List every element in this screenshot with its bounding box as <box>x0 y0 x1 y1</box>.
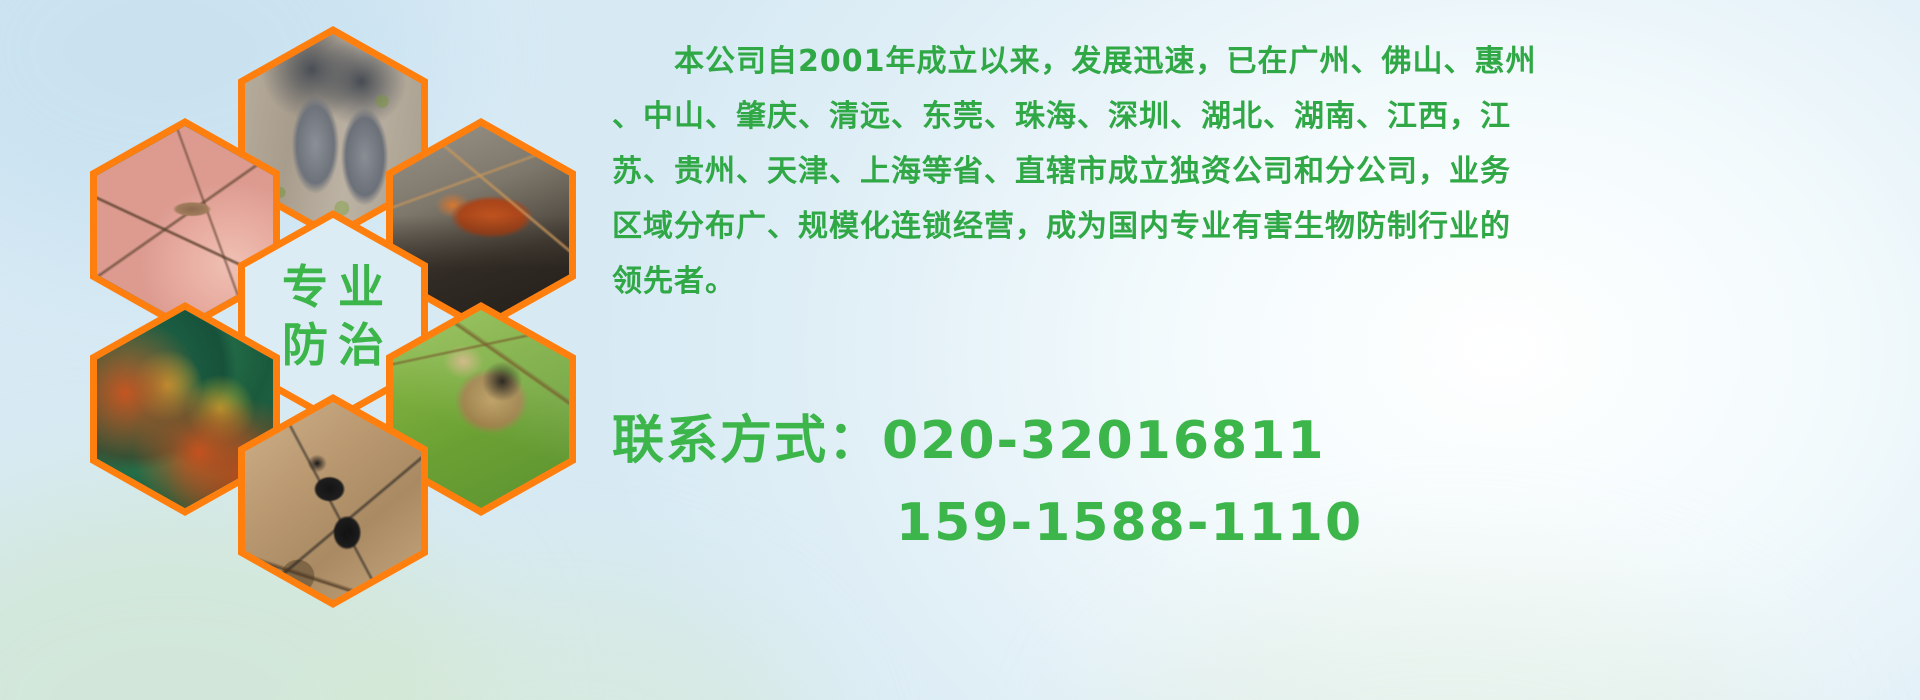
description-line-3: 苏、贵州、天津、上海等省、直辖市成立独资公司和分公司，业务 <box>612 144 1912 199</box>
contact-secondary-phone[interactable]: 159-1588-1110 <box>612 482 1912 564</box>
background-blob-bottom-right <box>1100 570 1800 700</box>
company-description: 本公司自2001年成立以来，发展迅速，已在广州、佛山、惠州 、中山、肇庆、清远、… <box>612 34 1912 309</box>
description-line-4: 区域分布广、规模化连锁经营，成为国内专业有害生物防制行业的 <box>612 199 1912 254</box>
ant-photo <box>245 402 421 600</box>
description-line-5: 领先者。 <box>612 254 1912 309</box>
slogan-line-2: 防治 <box>272 320 394 372</box>
description-line-2: 、中山、肇庆、清远、东莞、珠海、深圳、湖北、湖南、江西，江 <box>612 89 1912 144</box>
honeycomb-image-cluster: 专业 防治 <box>90 8 590 588</box>
contact-block: 联系方式：020-32016811 159-1588-1110 <box>612 400 1912 564</box>
description-line-1: 本公司自2001年成立以来，发展迅速，已在广州、佛山、惠州 <box>612 34 1912 89</box>
contact-primary-phone[interactable]: 联系方式：020-32016811 <box>612 400 1912 482</box>
promo-banner: 专业 防治 本公司自2001年成立以来，发展迅速，已在广州、佛山、惠州 、中山、… <box>0 0 1920 700</box>
slogan-line-1: 专业 <box>272 262 394 314</box>
